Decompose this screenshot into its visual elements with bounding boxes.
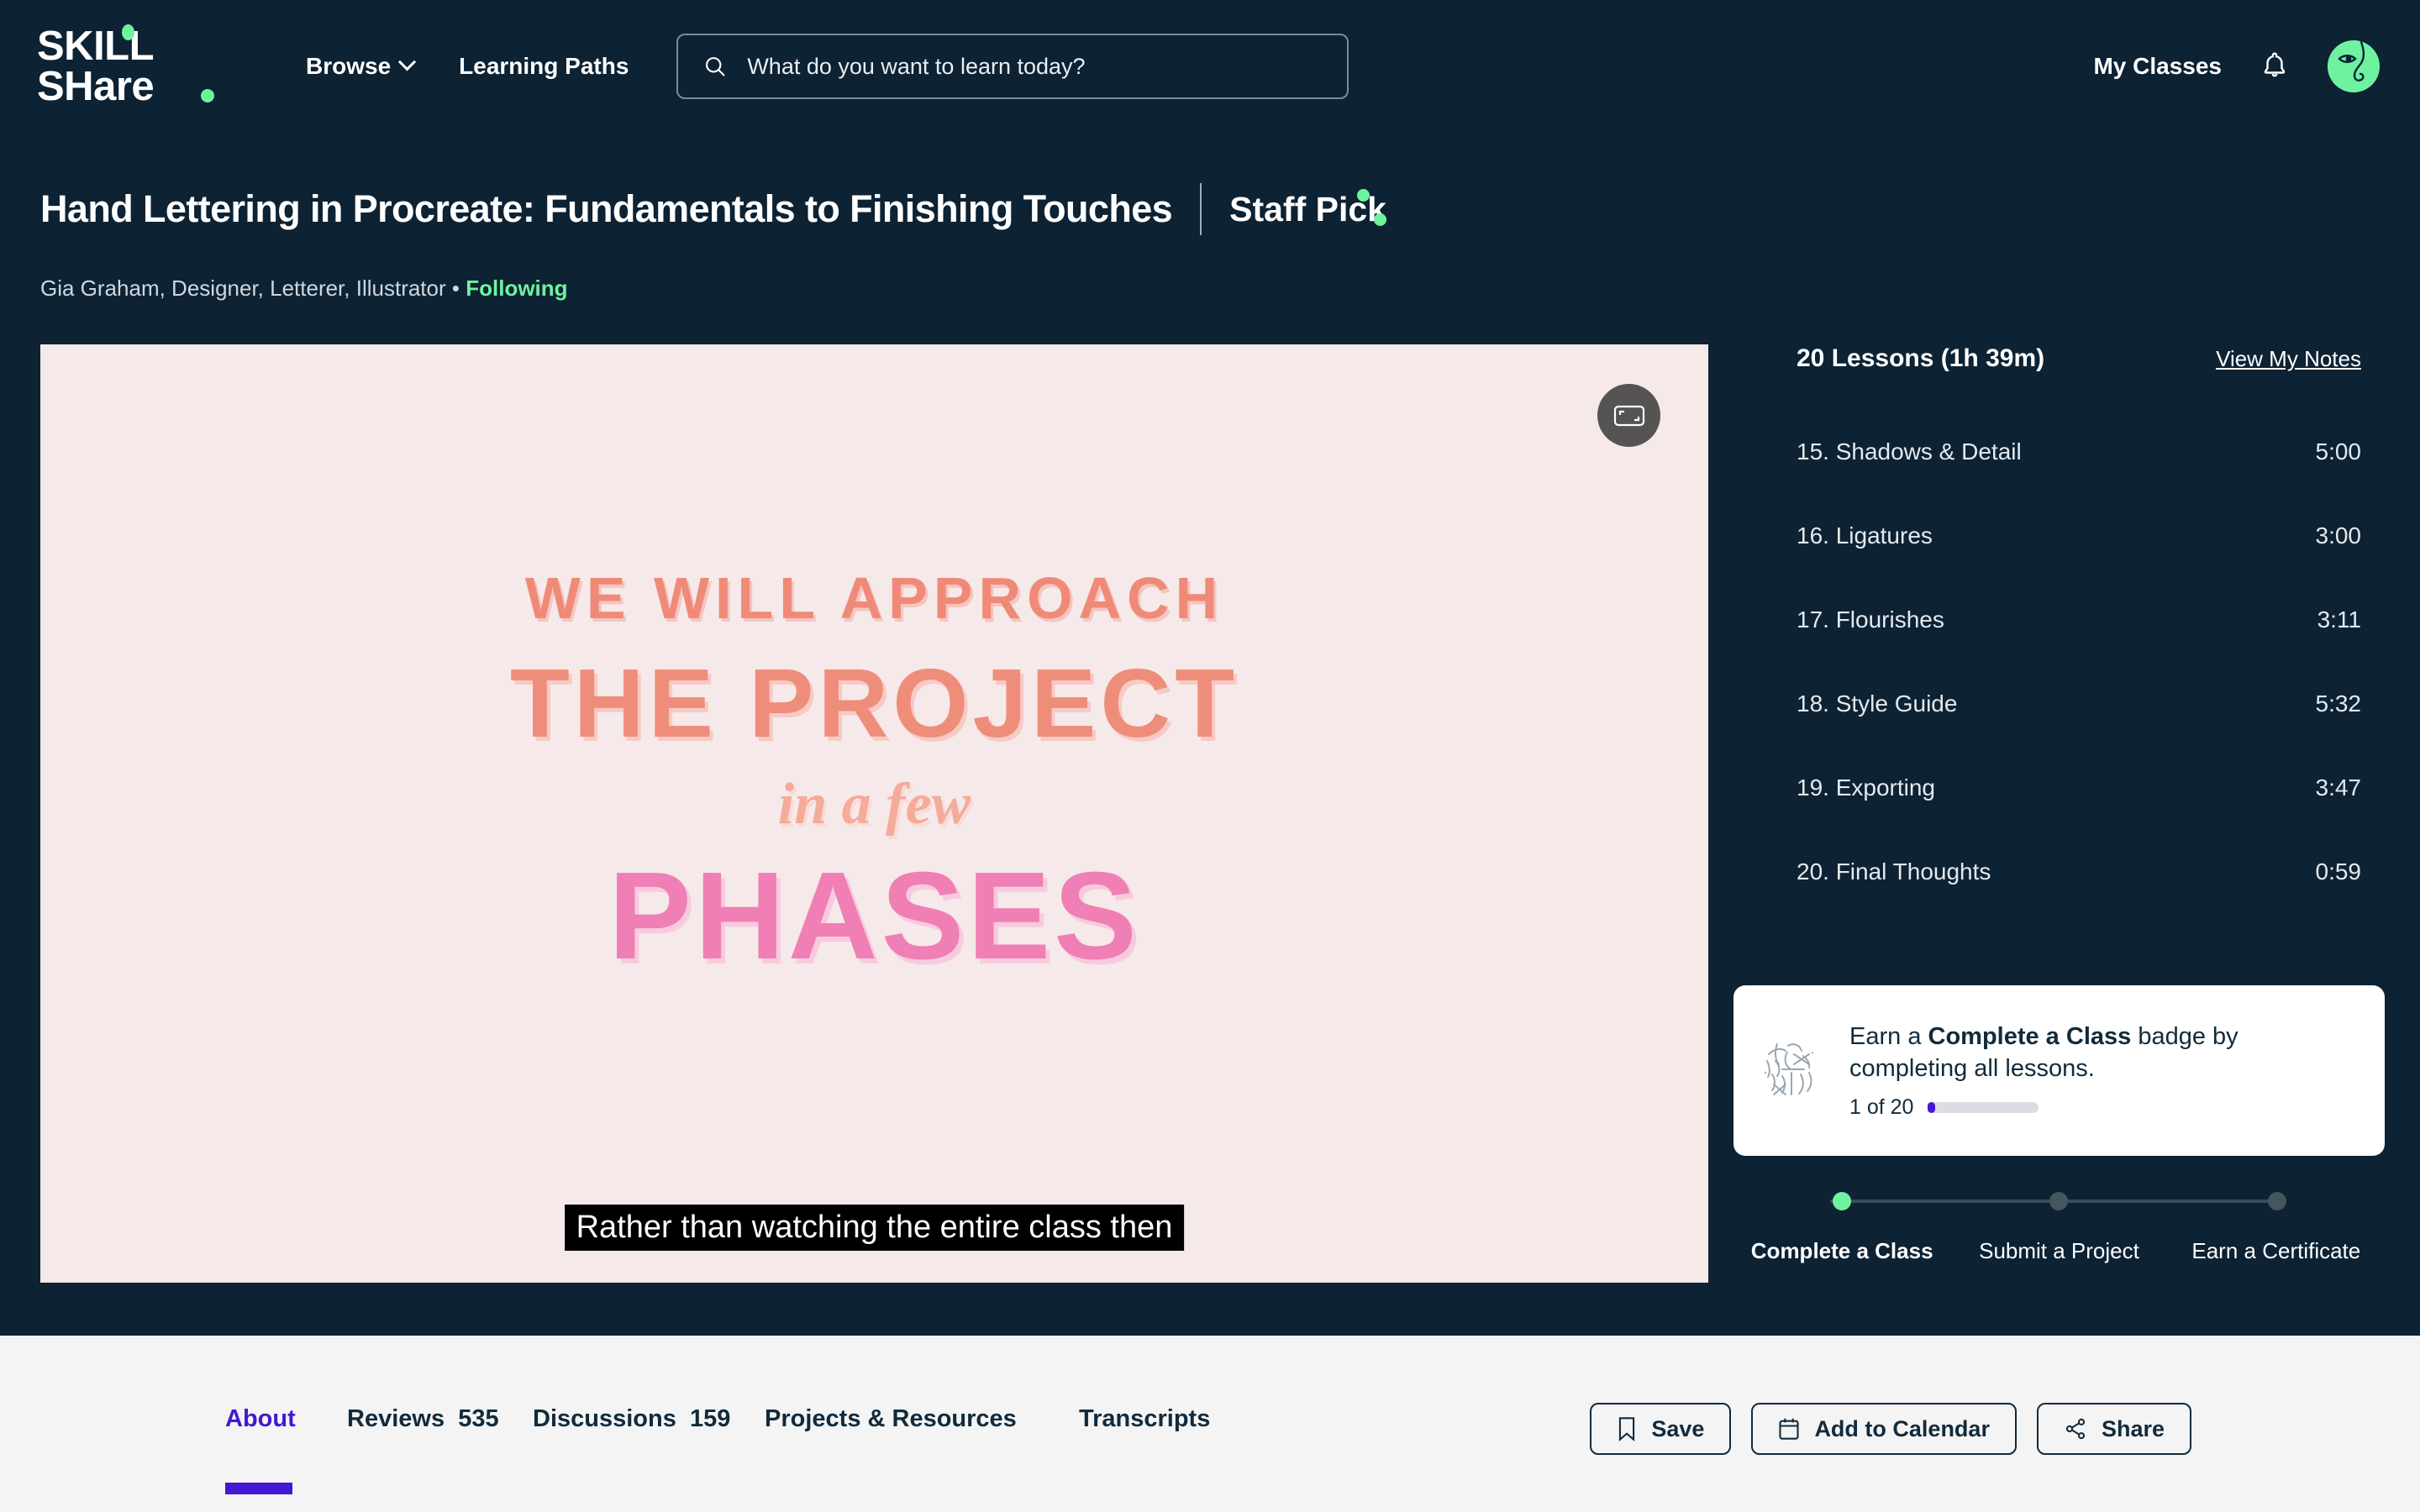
- bell-icon[interactable]: [2260, 50, 2289, 82]
- staff-pick-badge: Staff Pick: [1229, 190, 1386, 229]
- theater-mode-icon: [1612, 402, 1646, 429]
- badge-text: Earn a Complete a Class badge by complet…: [1849, 1021, 2359, 1084]
- scribble-badge-icon: [1757, 1036, 1828, 1106]
- lesson-name: 18. Style Guide: [1797, 690, 1957, 717]
- share-button[interactable]: Share: [2037, 1403, 2191, 1455]
- search-icon: [703, 54, 727, 79]
- my-classes-link[interactable]: My Classes: [2093, 53, 2222, 80]
- slide-line-1: WE WILL APPROACH: [525, 564, 1223, 632]
- badge-text-bold: Complete a Class: [1928, 1023, 2132, 1050]
- milestone-labels: Complete a Class Submit a Project Earn a…: [1733, 1236, 2385, 1266]
- milestone-tracker: Complete a Class Submit a Project Earn a…: [1733, 1189, 2385, 1266]
- tab-discussions-count: 159: [690, 1405, 730, 1432]
- primary-nav: Browse Learning Paths: [306, 53, 629, 80]
- calendar-icon: [1778, 1417, 1800, 1441]
- slide-line-4: PHASES: [608, 845, 1140, 988]
- lesson-time: 3:47: [2316, 774, 2362, 801]
- milestone-label-earn-a-certificate[interactable]: Earn a Certificate: [2168, 1236, 2385, 1266]
- search-box[interactable]: [676, 34, 1349, 99]
- tab-reviews[interactable]: Reviews 535: [347, 1336, 508, 1512]
- tab-transcripts-label: Transcripts: [1079, 1405, 1210, 1433]
- share-icon: [2064, 1417, 2087, 1441]
- site-header: SKILL SHare Browse Learning Paths My Cla…: [0, 0, 2420, 133]
- list-item[interactable]: 20. Final Thoughts 0:59: [1773, 830, 2386, 914]
- badge-progress-label: 1 of 20: [1849, 1095, 1913, 1120]
- list-item[interactable]: 15. Shadows & Detail 5:00: [1773, 410, 2386, 494]
- lessons-count: 20 Lessons (1h 39m): [1797, 344, 2044, 373]
- title-row: Hand Lettering in Procreate: Fundamental…: [40, 183, 1386, 235]
- header-right-cluster: My Classes: [2093, 0, 2380, 133]
- tab-discussions[interactable]: Discussions 159: [533, 1336, 727, 1512]
- lesson-time: 5:32: [2316, 690, 2362, 717]
- milestone-label-complete-a-class[interactable]: Complete a Class: [1733, 1236, 1950, 1266]
- tab-projects-resources-label: Projects & Resources: [765, 1405, 1017, 1433]
- search-input[interactable]: [747, 54, 1322, 80]
- tab-discussions-label: Discussions 159: [533, 1405, 730, 1433]
- milestone-label-submit-a-project[interactable]: Submit a Project: [1950, 1236, 2167, 1266]
- content-tabs: About Reviews 535 Discussions 159 Projec…: [225, 1336, 1214, 1512]
- add-to-calendar-button[interactable]: Add to Calendar: [1751, 1403, 2017, 1455]
- slide-line-3: in a few: [778, 771, 971, 838]
- tab-reviews-count: 535: [458, 1405, 498, 1432]
- avatar-face-icon: [2328, 40, 2380, 92]
- share-button-label: Share: [2102, 1416, 2165, 1442]
- badge-card[interactable]: Earn a Complete a Class badge by complet…: [1733, 985, 2385, 1156]
- milestone-dot-earn-a-certificate[interactable]: [2268, 1192, 2286, 1210]
- lesson-time: 0:59: [2316, 858, 2362, 885]
- video-player[interactable]: WE WILL APPROACH THE PROJECT in a few PH…: [40, 344, 1708, 1283]
- tab-transcripts[interactable]: Transcripts: [1079, 1336, 1214, 1512]
- list-item[interactable]: 17. Flourishes 3:11: [1773, 578, 2386, 662]
- view-my-notes-link[interactable]: View My Notes: [2216, 346, 2361, 372]
- lesson-time: 5:00: [2316, 438, 2362, 465]
- progress-bar-fill: [1928, 1102, 1935, 1113]
- page-title: Hand Lettering in Procreate: Fundamental…: [40, 187, 1172, 231]
- theater-mode-button[interactable]: [1597, 384, 1660, 447]
- bookmark-icon: [1617, 1416, 1637, 1441]
- avatar[interactable]: [2328, 40, 2380, 92]
- lesson-time: 3:00: [2316, 522, 2362, 549]
- lessons-header: 20 Lessons (1h 39m) View My Notes: [1773, 344, 2386, 373]
- lesson-name: 19. Exporting: [1797, 774, 1935, 801]
- lessons-panel: 20 Lessons (1h 39m) View My Notes 15. Sh…: [1773, 344, 2386, 914]
- list-item[interactable]: 19. Exporting 3:47: [1773, 746, 2386, 830]
- skillshare-class-page: SKILL SHare Browse Learning Paths My Cla…: [0, 0, 2420, 1512]
- following-status[interactable]: Following: [466, 276, 567, 301]
- logo-green-period-icon: [201, 89, 214, 102]
- staff-pick-green-dot-icon: [1357, 189, 1370, 202]
- action-buttons: Save Add to Calendar: [1590, 1403, 2191, 1455]
- byline: Gia Graham, Designer, Letterer, Illustra…: [40, 276, 568, 302]
- milestone-dot-complete-a-class[interactable]: [1833, 1192, 1851, 1210]
- tab-projects-resources[interactable]: Projects & Resources: [765, 1336, 1018, 1512]
- bottom-bar: About Reviews 535 Discussions 159 Projec…: [0, 1336, 2420, 1512]
- video-slide-content: WE WILL APPROACH THE PROJECT in a few PH…: [40, 344, 1708, 1283]
- list-item[interactable]: 18. Style Guide 5:32: [1773, 662, 2386, 746]
- lesson-time: 3:11: [2317, 606, 2361, 633]
- nav-browse-label: Browse: [306, 53, 391, 80]
- logo-line-2: SHare: [37, 66, 230, 107]
- lesson-name: 20. Final Thoughts: [1797, 858, 1991, 885]
- milestone-dot-submit-a-project[interactable]: [2049, 1192, 2068, 1210]
- tab-about[interactable]: About: [225, 1336, 292, 1512]
- title-divider: [1200, 183, 1202, 235]
- video-caption: Rather than watching the entire class th…: [565, 1205, 1185, 1251]
- add-to-calendar-button-label: Add to Calendar: [1814, 1416, 1990, 1442]
- save-button[interactable]: Save: [1590, 1403, 1731, 1455]
- badge-text-before: Earn a: [1849, 1023, 1928, 1050]
- nav-item-browse[interactable]: Browse: [306, 53, 413, 80]
- nav-learning-paths-label: Learning Paths: [459, 53, 629, 80]
- save-button-label: Save: [1651, 1416, 1704, 1442]
- lesson-name: 15. Shadows & Detail: [1797, 438, 2022, 465]
- progress-bar-track: [1928, 1102, 2039, 1113]
- logo-green-dot-icon: [122, 24, 134, 40]
- nav-item-learning-paths[interactable]: Learning Paths: [459, 53, 629, 80]
- tab-about-label: About: [225, 1405, 296, 1433]
- list-item[interactable]: 16. Ligatures 3:00: [1773, 494, 2386, 578]
- badge-card-body: Earn a Complete a Class badge by complet…: [1849, 1021, 2359, 1120]
- byline-author[interactable]: Gia Graham, Designer, Letterer, Illustra…: [40, 276, 446, 301]
- slide-line-2: THE PROJECT: [510, 647, 1239, 759]
- tab-active-indicator: [225, 1483, 292, 1494]
- lesson-name: 17. Flourishes: [1797, 606, 1944, 633]
- staff-pick-green-period-icon: [1374, 213, 1386, 226]
- tab-reviews-label: Reviews 535: [347, 1405, 499, 1433]
- badge-progress: 1 of 20: [1849, 1095, 2359, 1120]
- byline-separator: •: [452, 276, 460, 301]
- lesson-name: 16. Ligatures: [1797, 522, 1933, 549]
- milestone-dots: [1733, 1189, 2385, 1214]
- skillshare-logo[interactable]: SKILL SHare: [37, 26, 230, 107]
- chevron-down-icon: [398, 53, 416, 71]
- lesson-list: 15. Shadows & Detail 5:00 16. Ligatures …: [1773, 410, 2386, 914]
